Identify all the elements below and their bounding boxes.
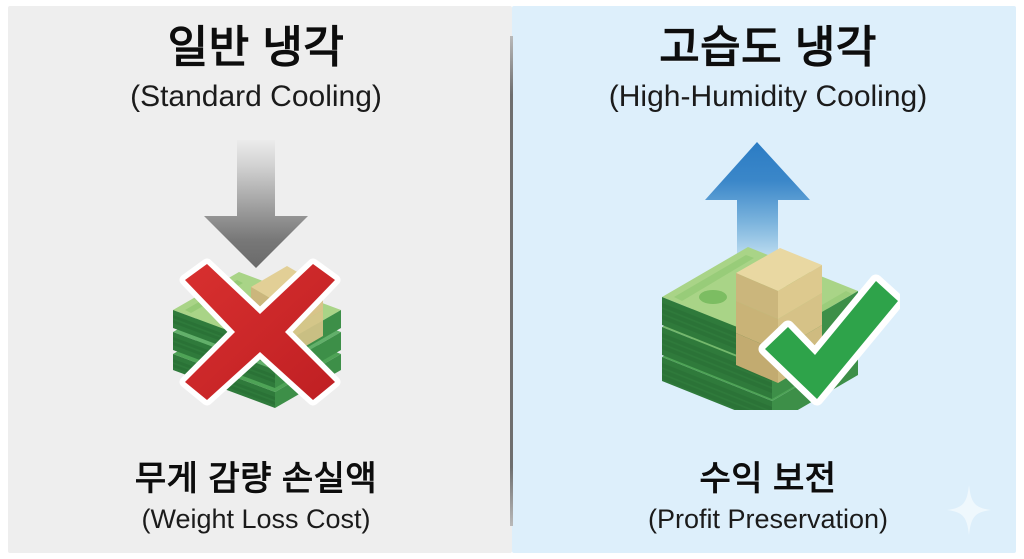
high-humidity-caption: 수익 보전 (Profit Preservation) [512, 459, 1024, 537]
standard-caption-korean: 무게 감량 손실액 [0, 459, 512, 500]
standard-title-english: (Standard Cooling) [0, 78, 512, 116]
standard-caption: 무게 감량 손실액 (Weight Loss Cost) [0, 459, 512, 537]
comparison-figure: 일반 냉각 (Standard Cooling) [0, 0, 1024, 559]
panel-divider [510, 36, 513, 526]
high-humidity-caption-korean: 수익 보전 [512, 459, 1024, 500]
money-stack-with-green-check [640, 245, 900, 410]
high-humidity-title-korean: 고습도 냉각 [512, 22, 1024, 74]
high-humidity-heading: 고습도 냉각 (High-Humidity Cooling) [512, 22, 1024, 115]
high-humidity-caption-english: (Profit Preservation) [512, 503, 1024, 537]
high-humidity-title-english: (High-Humidity Cooling) [512, 78, 1024, 116]
standard-heading: 일반 냉각 (Standard Cooling) [0, 22, 512, 115]
standard-caption-english: (Weight Loss Cost) [0, 503, 512, 537]
standard-title-korean: 일반 냉각 [0, 22, 512, 74]
